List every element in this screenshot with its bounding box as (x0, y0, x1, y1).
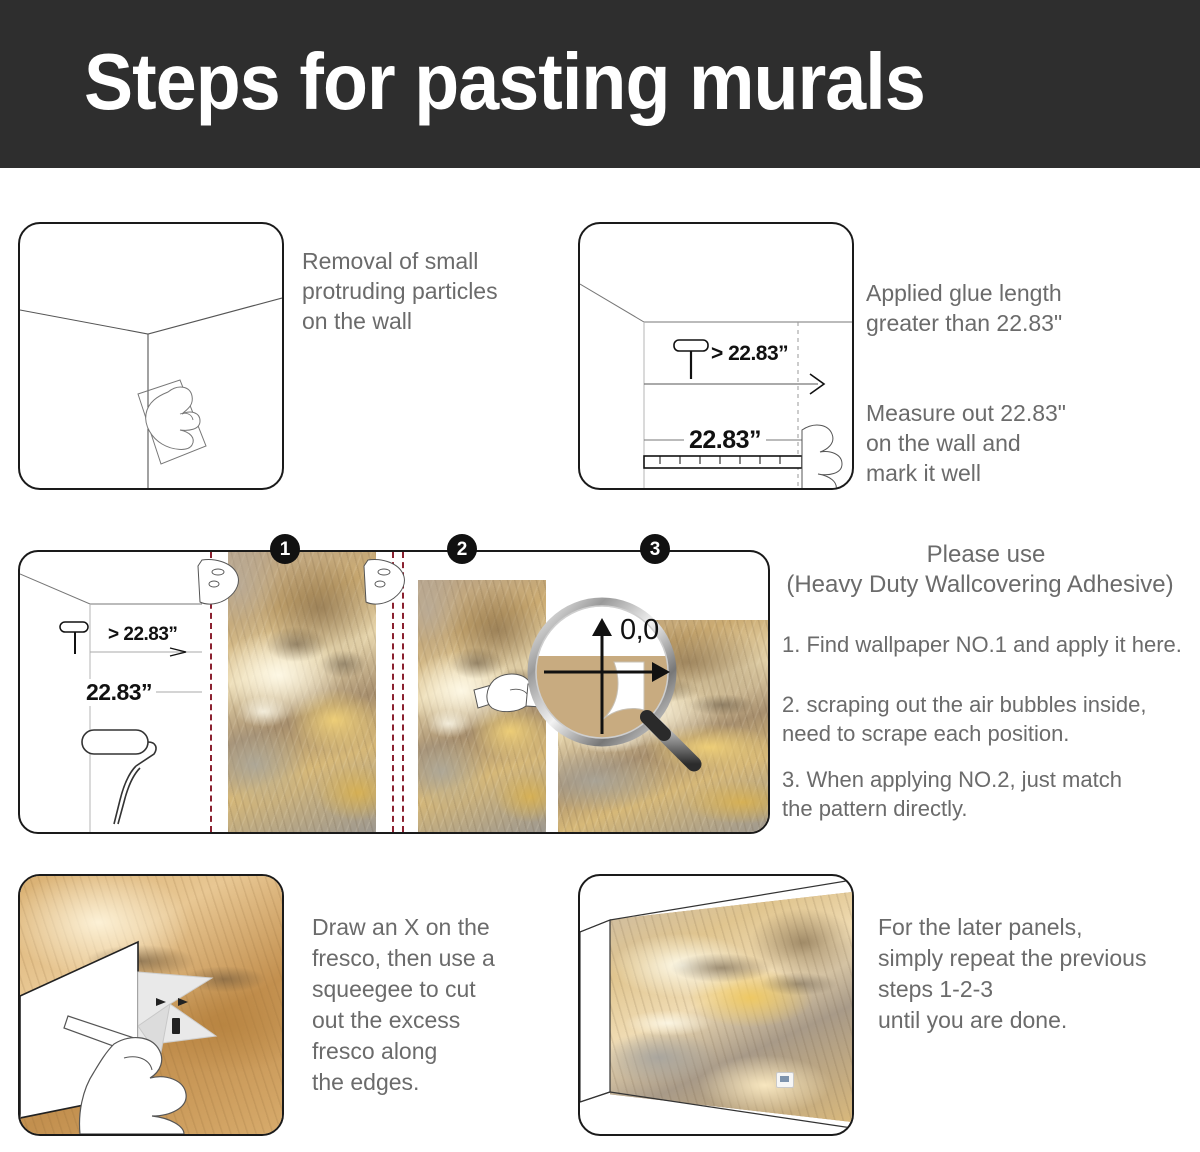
panel-step4 (18, 874, 284, 1136)
badge-step-3: 3 (640, 534, 670, 564)
panel-step5 (578, 874, 854, 1136)
instructions-heading-2: (Heavy Duty Wallcovering Adhesive) (768, 570, 1192, 599)
panel-step2: > 22.83” 22.83” (578, 222, 854, 490)
panel-step4-caption: Draw an X on the fresco, then use a sque… (312, 912, 562, 1098)
finished-wall-illustration (580, 876, 852, 1134)
panel-middle: > 22.83” 22.83” (18, 550, 770, 834)
middle-glue-label: > 22.83” (108, 624, 177, 646)
badge-step-1: 1 (270, 534, 300, 564)
hand-icon-strip1-right (362, 558, 408, 616)
panel-step1-caption: Removal of small protruding particles on… (302, 246, 570, 336)
panel-step1 (18, 222, 284, 490)
hand-icon-strip1-left (196, 558, 242, 616)
instructions-heading-1: Please use (786, 540, 1186, 569)
panel-step2-glue-label: > 22.83” (711, 342, 788, 366)
outlet-icon (776, 1072, 794, 1088)
badge-step-2: 2 (447, 534, 477, 564)
squeegee-cut-illustration (20, 876, 282, 1134)
instruction-item-3: 3. When applying NO.2, just match the pa… (782, 765, 1194, 823)
panel-step5-caption: For the later panels, simply repeat the … (878, 912, 1200, 1036)
panel-step2-measure-label: 22.83” (684, 426, 766, 455)
instruction-sheet: Steps for pasting murals Removal of smal… (0, 0, 1200, 1152)
instruction-item-1: 1. Find wallpaper NO.1 and apply it here… (782, 630, 1194, 659)
magnifier-icon (518, 588, 708, 778)
origin-label: 0,0 (620, 614, 659, 647)
page-title: Steps for pasting murals (84, 34, 925, 130)
middle-measure-label: 22.83” (82, 679, 156, 706)
panel-step2-caption-bottom: Measure out 22.83" on the wall and mark … (866, 398, 1186, 488)
room-corner-illustration (20, 224, 282, 488)
panel-step2-caption-top: Applied glue length greater than 22.83" (866, 278, 1186, 338)
instruction-item-2: 2. scraping out the air bubbles inside, … (782, 690, 1194, 748)
